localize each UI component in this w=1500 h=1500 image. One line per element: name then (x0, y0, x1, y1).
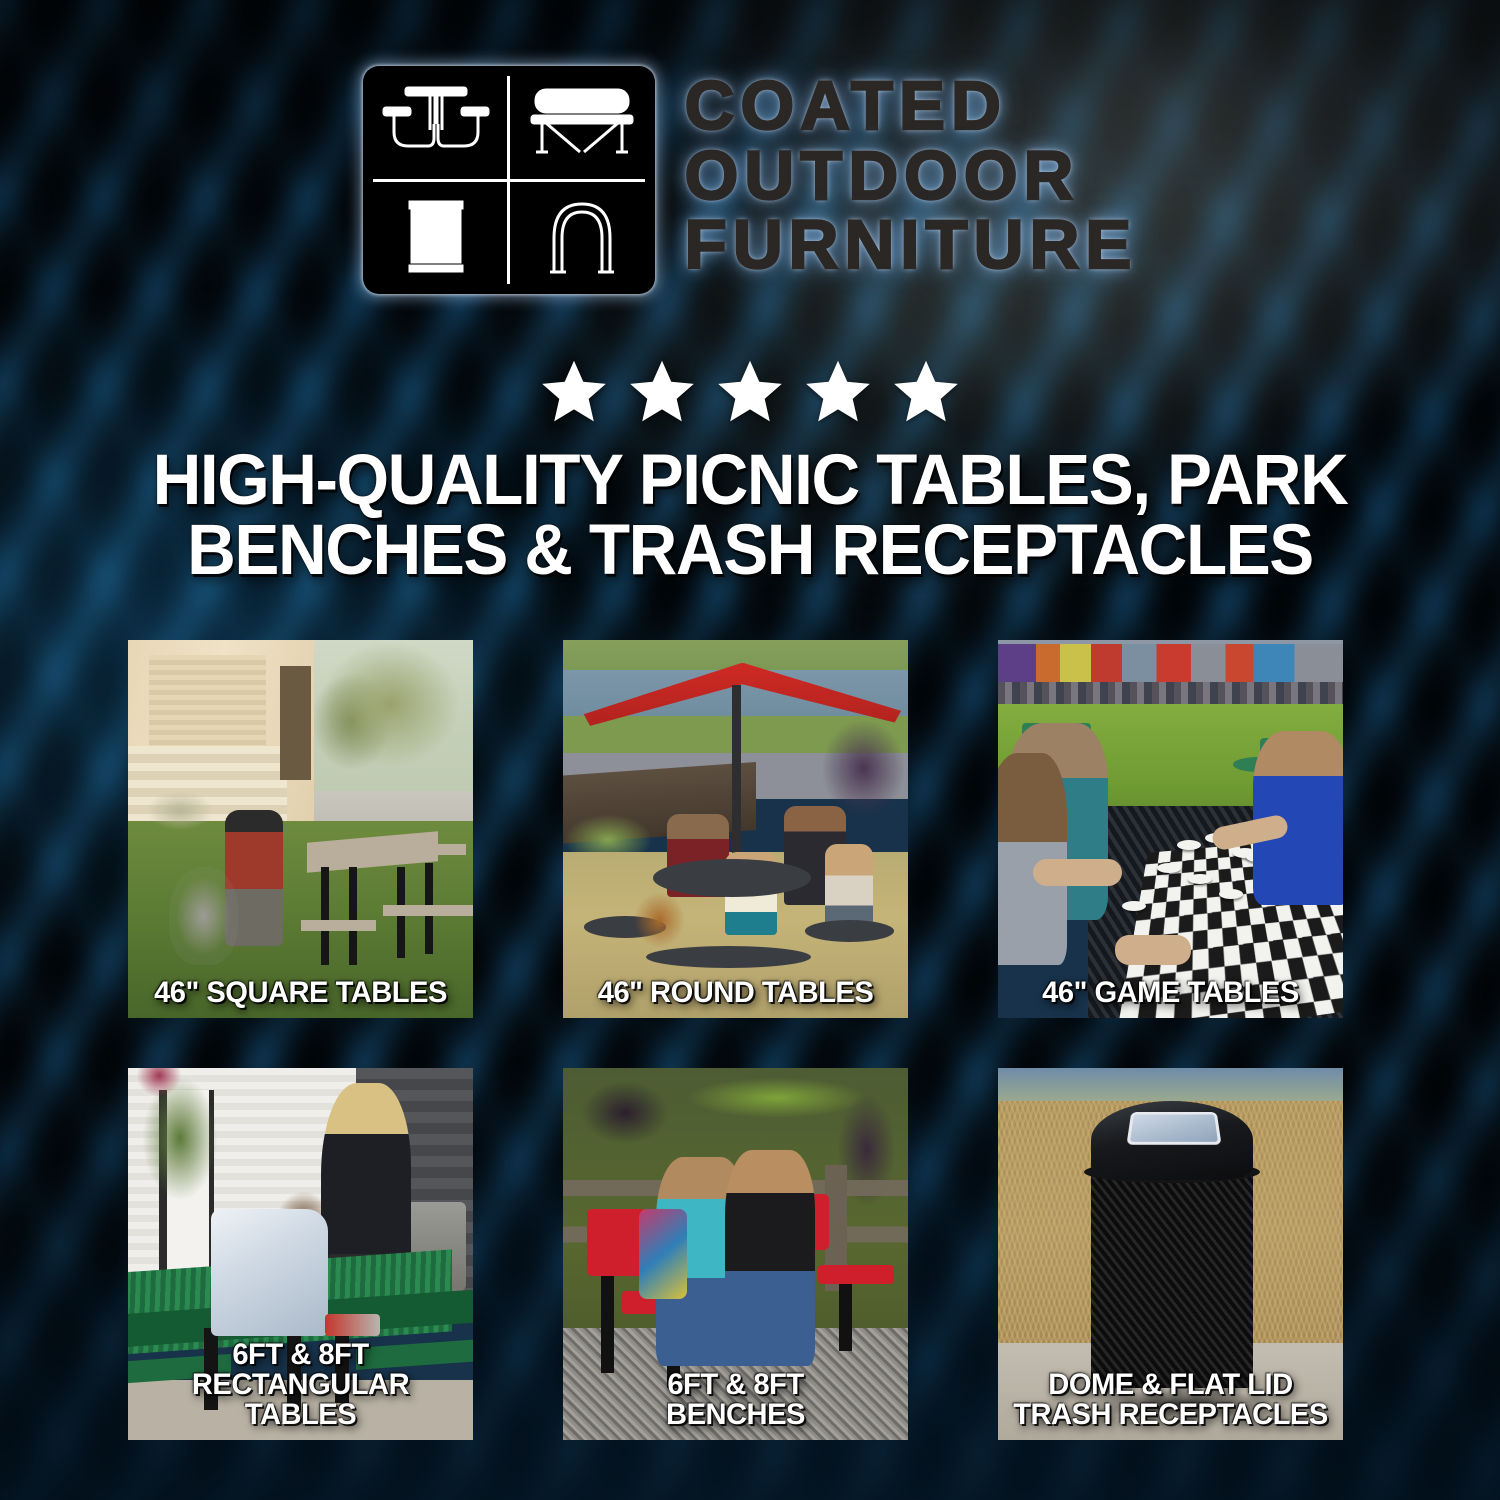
star-icon (802, 356, 874, 428)
headline-line-2: BENCHES & TRASH RECEPTACLES (95, 516, 1406, 586)
caption-line-1: 46" SQUARE TABLES (139, 978, 462, 1008)
product-caption: 6FT & 8FT RECTANGULAR TABLES (139, 1340, 462, 1430)
product-caption: 46" SQUARE TABLES (139, 978, 462, 1008)
brand-line-1: COATED (685, 72, 1138, 140)
caption-line-2: RECTANGULAR TABLES (139, 1370, 462, 1430)
caption-line-1: 46" GAME TABLES (1009, 978, 1332, 1008)
square-picnic-table-icon (363, 66, 509, 180)
star-icon (714, 356, 786, 428)
product-photo-square-tables (128, 640, 473, 1018)
product-photo-game-tables (998, 640, 1343, 1018)
trash-opening (1127, 1112, 1222, 1145)
brand-line-2: OUTDOOR (685, 142, 1138, 210)
product-tile-benches[interactable]: 6FT & 8FT BENCHES (563, 1068, 908, 1440)
headline-line-1: HIGH-QUALITY PICNIC TABLES, PARK (153, 441, 1348, 520)
product-photo-round-tables (563, 640, 908, 1018)
headline: HIGH-QUALITY PICNIC TABLES, PARK BENCHES… (95, 446, 1406, 587)
product-tile-square-tables[interactable]: 46" SQUARE TABLES (128, 640, 473, 1018)
product-caption: 46" GAME TABLES (1009, 978, 1332, 1008)
star-rating (0, 356, 1500, 428)
caption-line-1: 6FT & 8FT (139, 1340, 462, 1370)
caption-line-1: 6FT & 8FT (574, 1370, 897, 1400)
brand-logo: COATED OUTDOOR FURNITURE (0, 66, 1500, 294)
brand-wordmark: COATED OUTDOOR FURNITURE (685, 66, 1138, 279)
star-icon (890, 356, 962, 428)
product-caption: 46" ROUND TABLES (574, 978, 897, 1008)
product-caption: 6FT & 8FT BENCHES (574, 1370, 897, 1430)
product-tile-round-tables[interactable]: 46" ROUND TABLES (563, 640, 908, 1018)
product-tile-trash-receptacles[interactable]: DOME & FLAT LID TRASH RECEPTACLES (998, 1068, 1343, 1440)
caption-line-1: 46" ROUND TABLES (574, 978, 897, 1008)
product-caption: DOME & FLAT LID TRASH RECEPTACLES (1009, 1370, 1332, 1430)
star-icon (626, 356, 698, 428)
picnic-table-grid-logo-icon (363, 66, 655, 294)
product-tile-rectangular-tables[interactable]: 6FT & 8FT RECTANGULAR TABLES (128, 1068, 473, 1440)
flat-lid-trash-receptacle-icon (363, 180, 509, 294)
brand-line-3: FURNITURE (685, 211, 1138, 279)
caption-line-2: BENCHES (574, 1400, 897, 1430)
product-grid: 46" SQUARE TABLES 46" ROUND TAB (128, 640, 1374, 1440)
dome-lid-trash-receptacle-icon (509, 180, 655, 294)
product-tile-game-tables[interactable]: 46" GAME TABLES (998, 640, 1343, 1018)
caption-line-2: TRASH RECEPTACLES (1009, 1400, 1332, 1430)
park-bench-icon (509, 66, 655, 180)
star-icon (538, 356, 610, 428)
caption-line-1: DOME & FLAT LID (1009, 1370, 1332, 1400)
promo-banner: COATED OUTDOOR FURNITURE HIGH-QUALITY PI… (0, 0, 1500, 1500)
